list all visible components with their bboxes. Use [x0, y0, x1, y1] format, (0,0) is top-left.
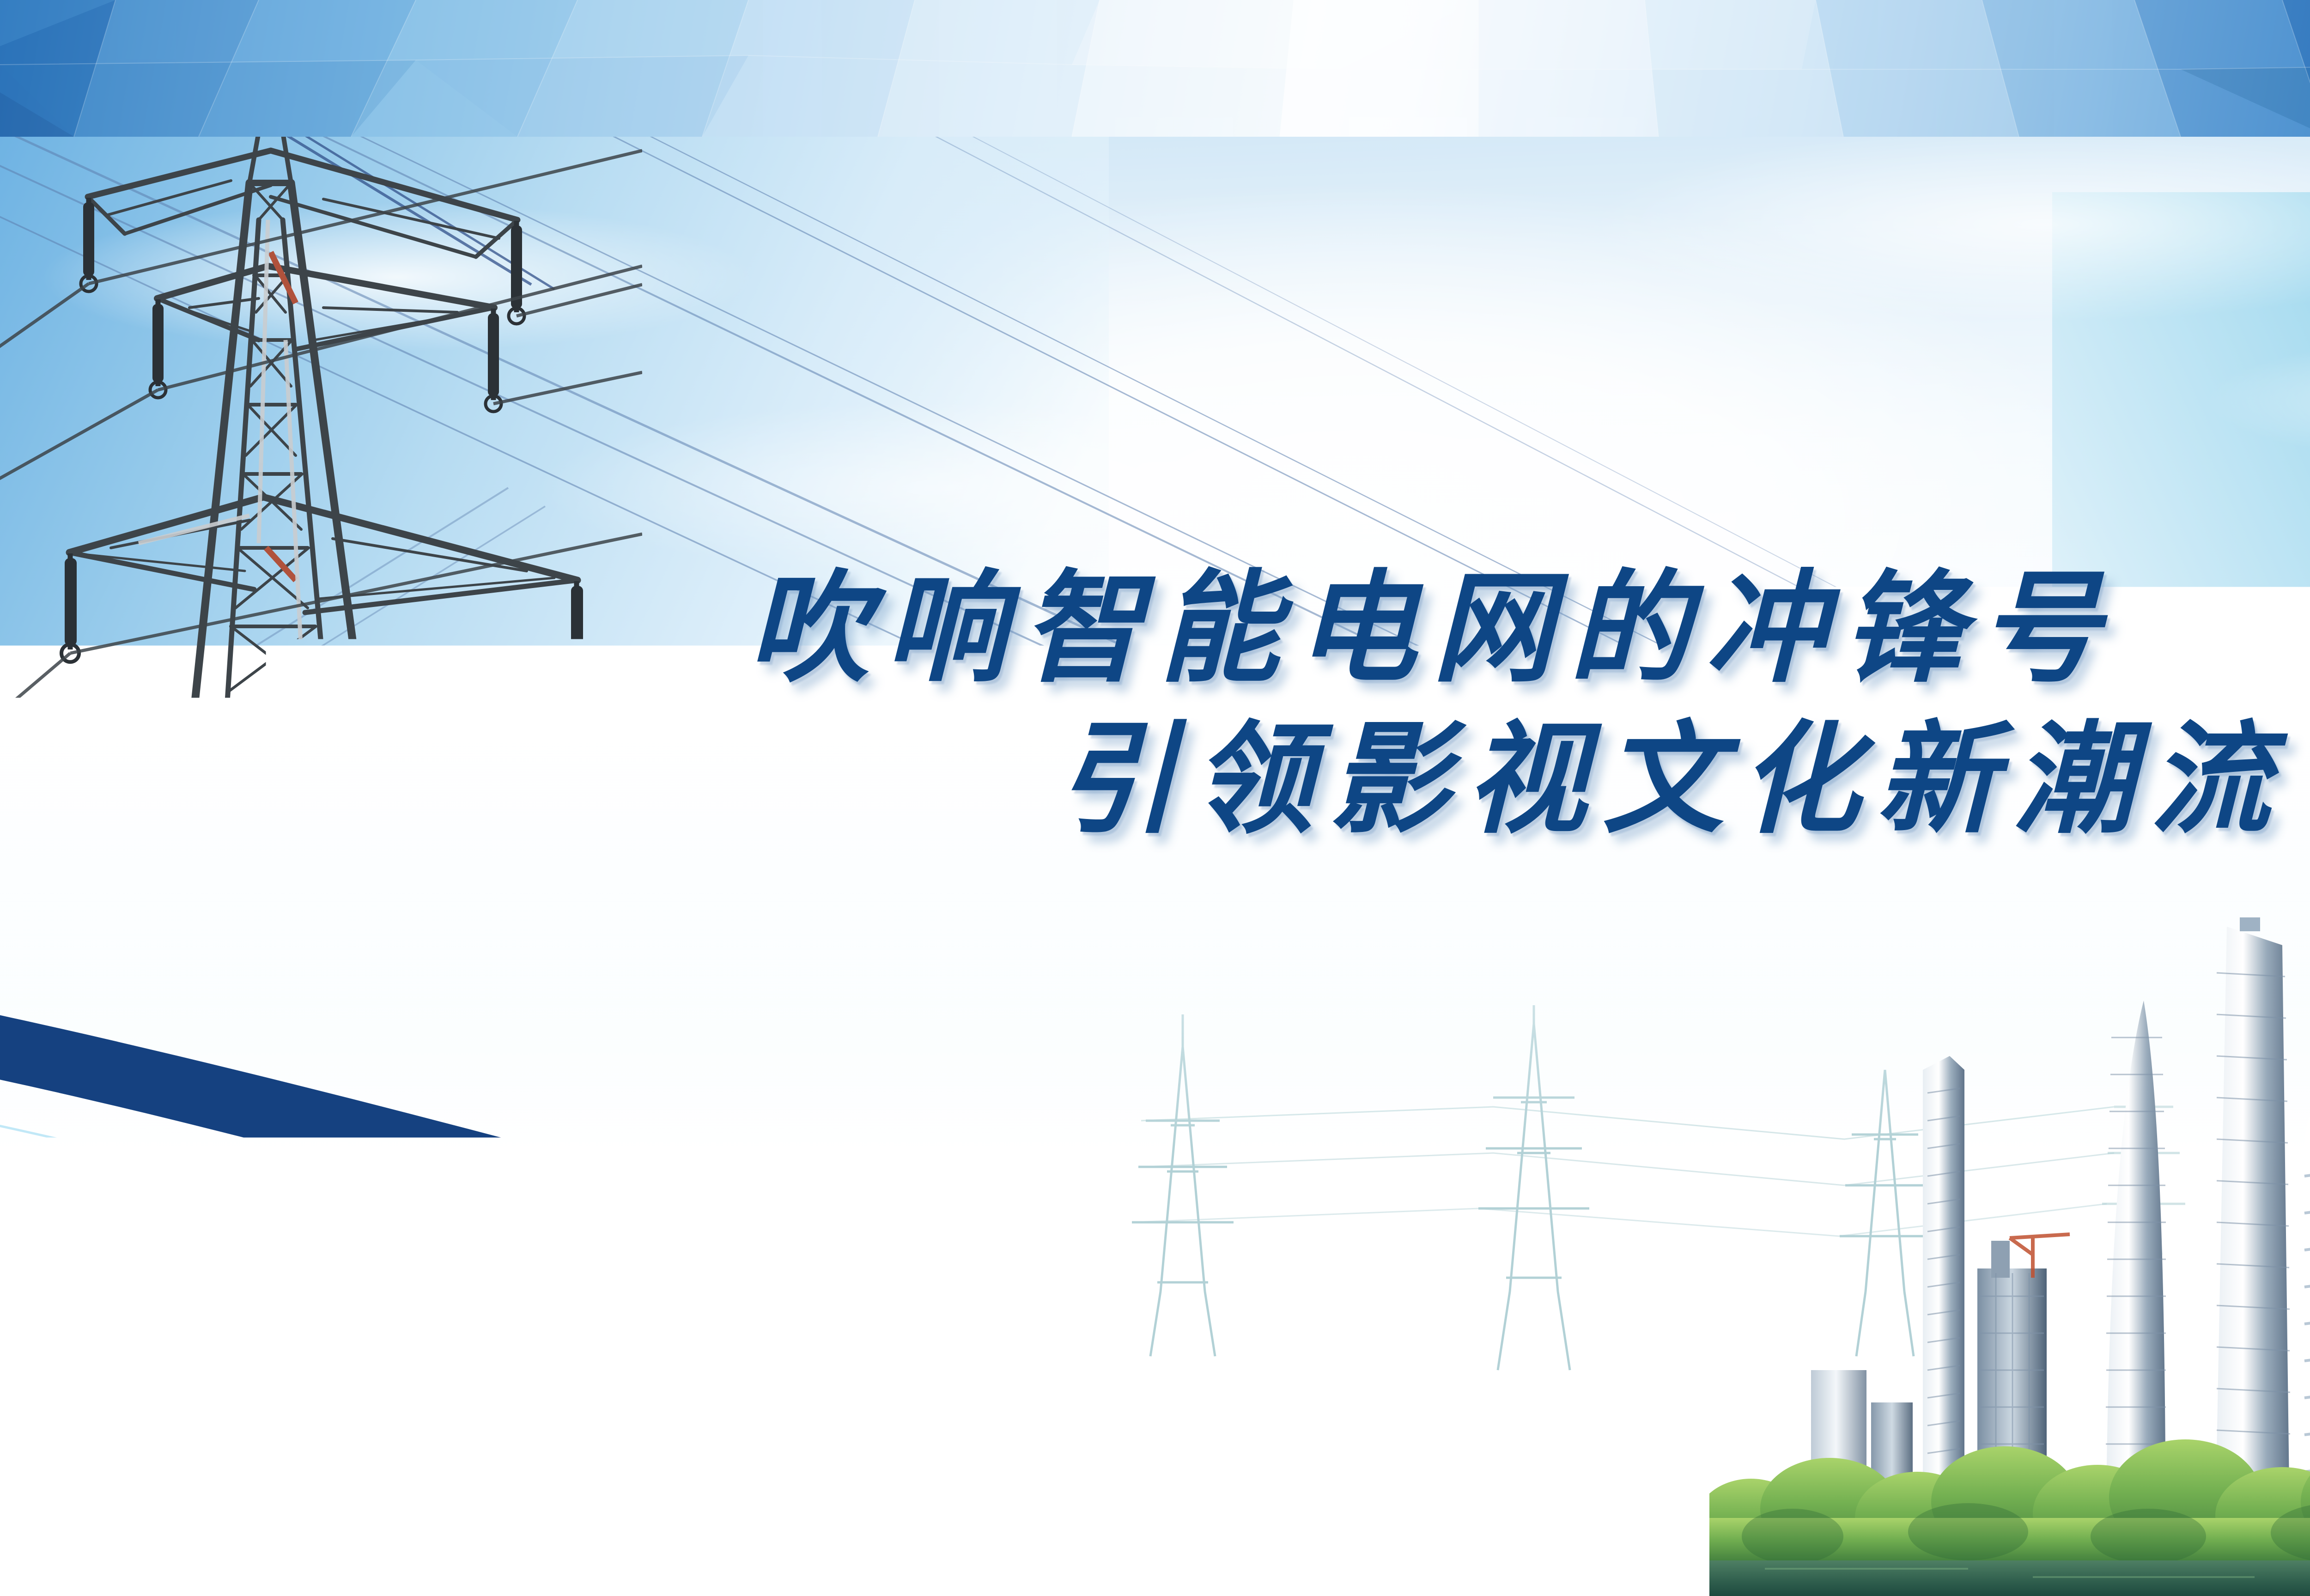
poster-canvas: 吹响智能电网的冲锋号 引领影视文化新潮流 — [0, 0, 2310, 1596]
treeline-and-river — [1709, 1384, 2310, 1596]
scene-stage: 吹响智能电网的冲锋号 引领影视文化新潮流 — [0, 137, 2310, 1596]
low-poly-triangles — [0, 0, 2310, 137]
low-poly-header-band — [0, 0, 2310, 137]
transmission-pylon-foreground — [0, 137, 642, 1282]
